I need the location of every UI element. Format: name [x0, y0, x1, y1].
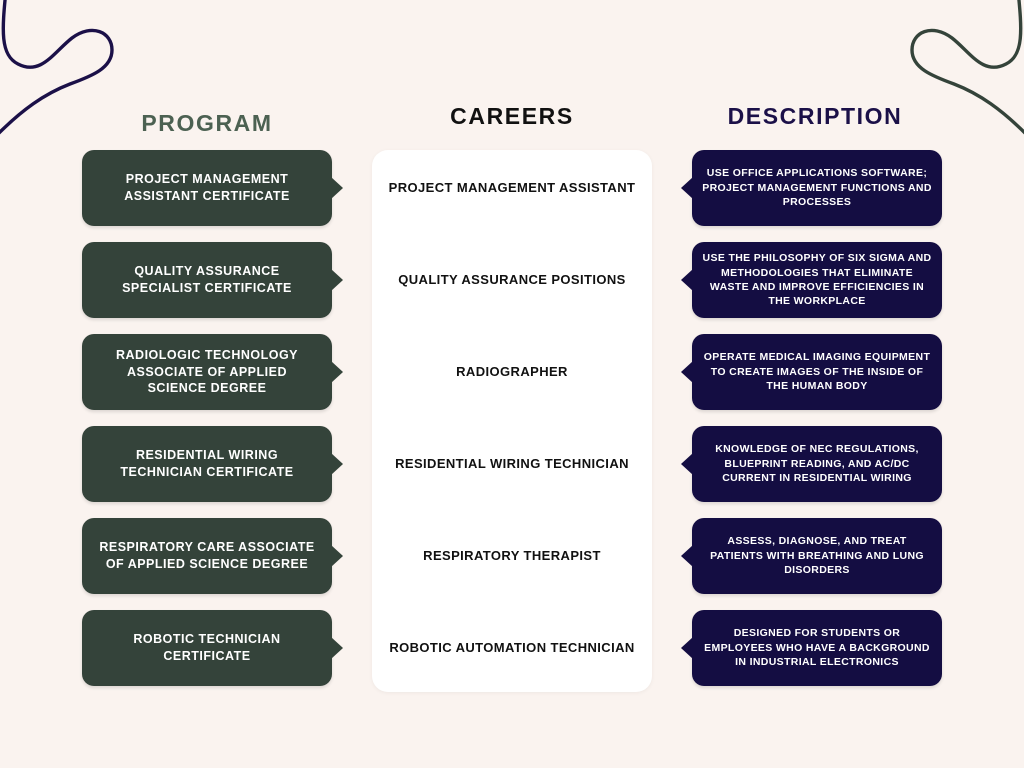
program-card[interactable]: RADIOLOGIC TECHNOLOGY ASSOCIATE OF APPLI… [82, 334, 332, 410]
description-row: KNOWLEDGE OF NEC REGULATIONS, BLUEPRINT … [692, 426, 942, 502]
column-header-description: DESCRIPTION [680, 103, 950, 130]
description-row: ASSESS, DIAGNOSE, AND TREAT PATIENTS WIT… [692, 518, 942, 594]
career-label: RADIOGRAPHER [456, 363, 568, 381]
program-card-label: RADIOLOGIC TECHNOLOGY ASSOCIATE OF APPLI… [96, 347, 318, 398]
column-header-careers: CAREERS [372, 103, 652, 130]
description-card-label: ASSESS, DIAGNOSE, AND TREAT PATIENTS WIT… [702, 534, 932, 577]
career-item[interactable]: RESPIRATORY THERAPIST [372, 518, 652, 594]
program-card[interactable]: RESPIRATORY CARE ASSOCIATE OF APPLIED SC… [82, 518, 332, 594]
comparison-board: PROJECT MANAGEMENT ASSISTANT CERTIFICATE… [0, 150, 1024, 710]
program-row: RADIOLOGIC TECHNOLOGY ASSOCIATE OF APPLI… [82, 334, 332, 410]
program-row: QUALITY ASSURANCE SPECIALIST CERTIFICATE [82, 242, 332, 318]
description-card[interactable]: USE OFFICE APPLICATIONS SOFTWARE; PROJEC… [692, 150, 942, 226]
description-row: OPERATE MEDICAL IMAGING EQUIPMENT TO CRE… [692, 334, 942, 410]
careers-panel: PROJECT MANAGEMENT ASSISTANT QUALITY ASS… [372, 150, 652, 692]
description-card[interactable]: DESIGNED FOR STUDENTS OR EMPLOYEES WHO H… [692, 610, 942, 686]
career-item[interactable]: QUALITY ASSURANCE POSITIONS [372, 242, 652, 318]
career-item[interactable]: RADIOGRAPHER [372, 334, 652, 410]
description-card-label: OPERATE MEDICAL IMAGING EQUIPMENT TO CRE… [702, 350, 932, 393]
career-label: RESPIRATORY THERAPIST [423, 547, 601, 565]
description-card[interactable]: KNOWLEDGE OF NEC REGULATIONS, BLUEPRINT … [692, 426, 942, 502]
career-label: QUALITY ASSURANCE POSITIONS [398, 271, 626, 289]
program-row: RESPIRATORY CARE ASSOCIATE OF APPLIED SC… [82, 518, 332, 594]
career-label: PROJECT MANAGEMENT ASSISTANT [389, 179, 636, 197]
program-row: RESIDENTIAL WIRING TECHNICIAN CERTIFICAT… [82, 426, 332, 502]
program-row: PROJECT MANAGEMENT ASSISTANT CERTIFICATE [82, 150, 332, 226]
program-card-label: PROJECT MANAGEMENT ASSISTANT CERTIFICATE [96, 171, 318, 205]
column-header-program: PROGRAM [72, 110, 342, 137]
description-column: USE OFFICE APPLICATIONS SOFTWARE; PROJEC… [692, 150, 942, 702]
career-item[interactable]: ROBOTIC AUTOMATION TECHNICIAN [372, 610, 652, 686]
career-label: ROBOTIC AUTOMATION TECHNICIAN [389, 639, 634, 657]
program-card[interactable]: RESIDENTIAL WIRING TECHNICIAN CERTIFICAT… [82, 426, 332, 502]
column-headers: PROGRAM CAREERS DESCRIPTION [0, 0, 1024, 150]
program-card[interactable]: QUALITY ASSURANCE SPECIALIST CERTIFICATE [82, 242, 332, 318]
program-column: PROJECT MANAGEMENT ASSISTANT CERTIFICATE… [82, 150, 332, 702]
description-card-label: DESIGNED FOR STUDENTS OR EMPLOYEES WHO H… [702, 626, 932, 669]
program-card-label: RESIDENTIAL WIRING TECHNICIAN CERTIFICAT… [96, 447, 318, 481]
program-card[interactable]: PROJECT MANAGEMENT ASSISTANT CERTIFICATE [82, 150, 332, 226]
description-card[interactable]: ASSESS, DIAGNOSE, AND TREAT PATIENTS WIT… [692, 518, 942, 594]
description-card[interactable]: USE THE PHILOSOPHY OF SIX SIGMA AND METH… [692, 242, 942, 318]
description-card-label: USE THE PHILOSOPHY OF SIX SIGMA AND METH… [702, 251, 932, 309]
description-row: DESIGNED FOR STUDENTS OR EMPLOYEES WHO H… [692, 610, 942, 686]
program-card-label: RESPIRATORY CARE ASSOCIATE OF APPLIED SC… [96, 539, 318, 573]
program-row: ROBOTIC TECHNICIAN CERTIFICATE [82, 610, 332, 686]
program-card-label: QUALITY ASSURANCE SPECIALIST CERTIFICATE [96, 263, 318, 297]
program-card[interactable]: ROBOTIC TECHNICIAN CERTIFICATE [82, 610, 332, 686]
description-card-label: KNOWLEDGE OF NEC REGULATIONS, BLUEPRINT … [702, 442, 932, 485]
program-card-label: ROBOTIC TECHNICIAN CERTIFICATE [96, 631, 318, 665]
description-row: USE OFFICE APPLICATIONS SOFTWARE; PROJEC… [692, 150, 942, 226]
career-item[interactable]: RESIDENTIAL WIRING TECHNICIAN [372, 426, 652, 502]
career-item[interactable]: PROJECT MANAGEMENT ASSISTANT [372, 150, 652, 226]
career-label: RESIDENTIAL WIRING TECHNICIAN [395, 455, 629, 473]
description-card[interactable]: OPERATE MEDICAL IMAGING EQUIPMENT TO CRE… [692, 334, 942, 410]
description-row: USE THE PHILOSOPHY OF SIX SIGMA AND METH… [692, 242, 942, 318]
description-card-label: USE OFFICE APPLICATIONS SOFTWARE; PROJEC… [702, 166, 932, 209]
